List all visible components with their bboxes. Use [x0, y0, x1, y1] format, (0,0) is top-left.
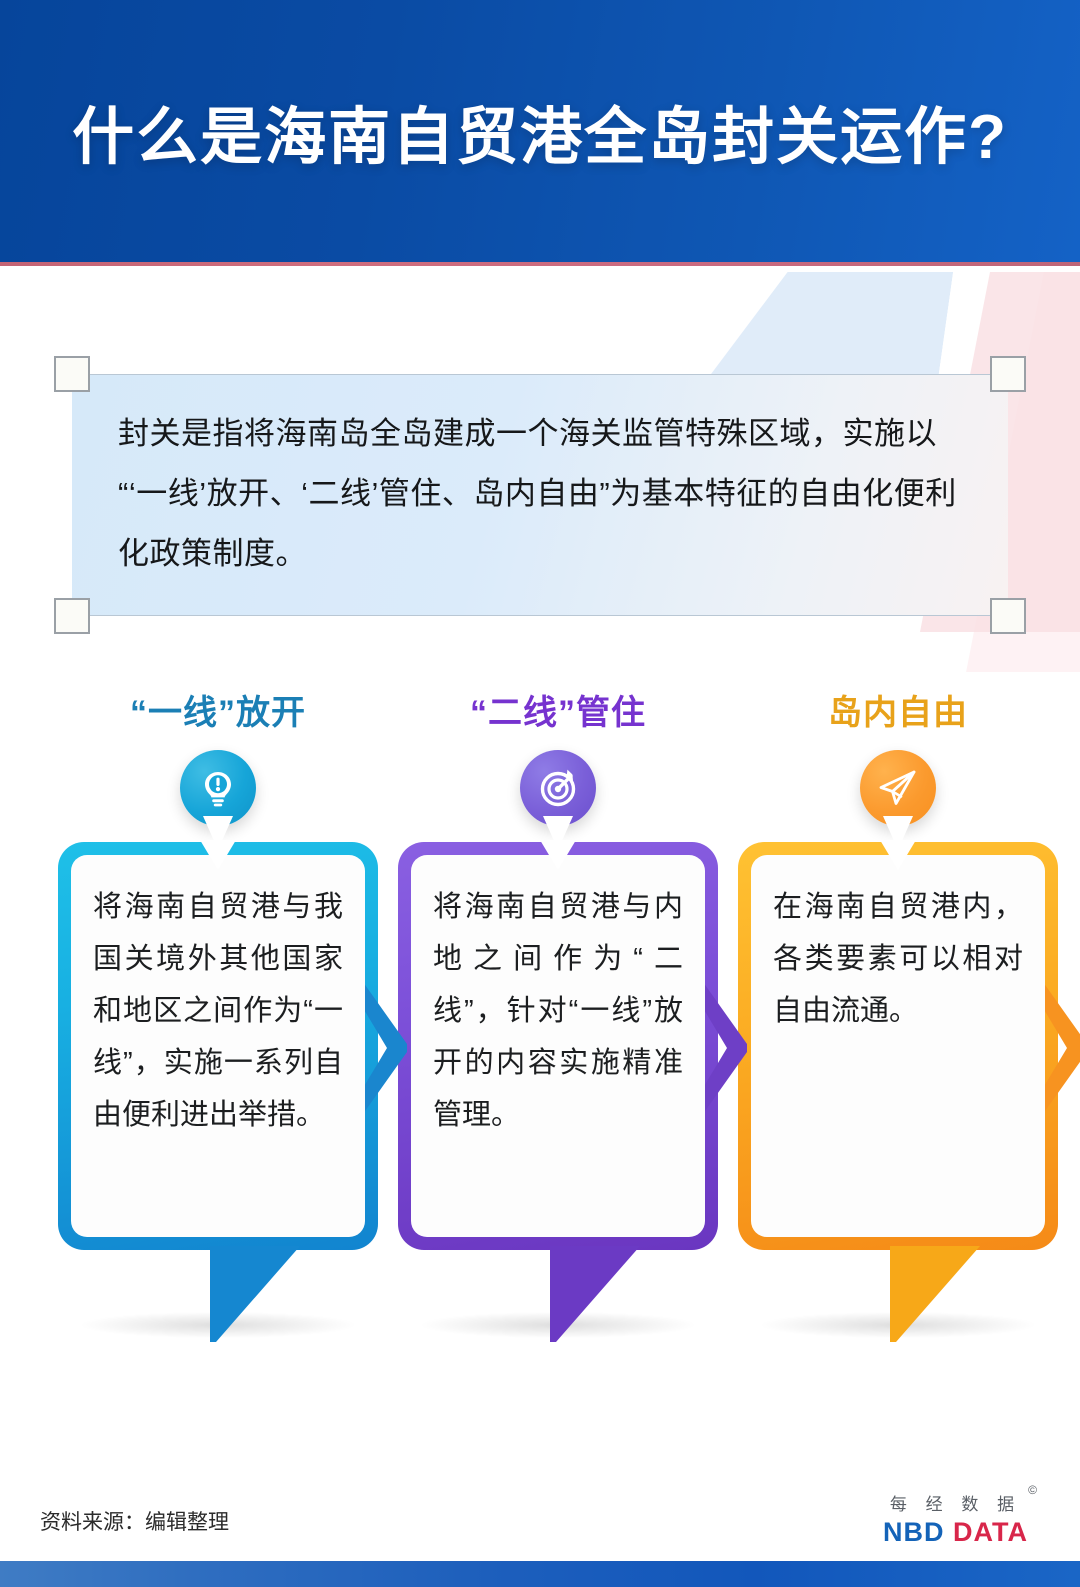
- badge-wrap-1: [48, 746, 388, 842]
- card-tail-3: [890, 1246, 980, 1346]
- corner-marker-top-right: [990, 356, 1026, 392]
- chevron-right-icon-1: [363, 982, 415, 1114]
- page-title: 什么是海南自贸港全岛封关运作?: [72, 86, 1008, 176]
- corner-marker-top-left: [54, 356, 90, 392]
- card-text-2: 将海南自贸港与内地之间作为“二线”，针对“一线”放开的内容实施精准管理。: [433, 881, 683, 1141]
- logo-chinese-text: 每 经 数 据: [890, 1495, 1021, 1514]
- intro-text: 封关是指将海南岛全岛建成一个海关监管特殊区域，实施以“‘一线’放开、‘二线’管住…: [118, 404, 968, 584]
- header-banner: 什么是海南自贸港全岛封关运作?: [0, 0, 1080, 262]
- footer-bar: [0, 1561, 1080, 1587]
- column-daonei-ziyou: 岛内自由: [728, 690, 1068, 1250]
- badge-pointer-2: [543, 816, 573, 850]
- column-title-1: “一线”放开: [48, 690, 388, 746]
- logo-data-text: DATA: [953, 1517, 1028, 1547]
- badge-pointer-3: [883, 816, 913, 850]
- intro-callout: 封关是指将海南岛全岛建成一个海关监管特殊区域，实施以“‘一线’放开、‘二线’管住…: [72, 374, 1008, 616]
- badge-wrap-2: [388, 746, 728, 842]
- logo-english-name: NBD DATA: [883, 1517, 1028, 1548]
- badge-pointer-1: [203, 816, 233, 850]
- copyright-icon: ©: [1028, 1483, 1037, 1497]
- column-title-2: “二线”管住: [388, 690, 728, 746]
- card-text-3: 在海南自贸港内，各类要素可以相对自由流通。: [773, 881, 1023, 1037]
- infographic-page: 什么是海南自贸港全岛封关运作? 封关是指将海南岛全岛建成一个海关监管特殊区域，实…: [0, 0, 1080, 1587]
- nbd-data-logo: 每 经 数 据 © NBD DATA: [883, 1490, 1028, 1548]
- target-icon: [520, 750, 596, 826]
- card-inner-3: 在海南自贸港内，各类要素可以相对自由流通。: [751, 855, 1045, 1237]
- speech-card-1: 将海南自贸港与我国关境外其他国家和地区之间作为“一线”，实施一系列自由便利进出举…: [58, 842, 378, 1250]
- speech-card-3: 在海南自贸港内，各类要素可以相对自由流通。: [738, 842, 1058, 1250]
- column-yixian-fangkai: “一线”放开: [48, 690, 388, 1250]
- card-inner-2: 将海南自贸港与内地之间作为“二线”，针对“一线”放开的内容实施精准管理。: [411, 855, 705, 1237]
- card-frame-1: 将海南自贸港与我国关境外其他国家和地区之间作为“一线”，实施一系列自由便利进出举…: [58, 842, 378, 1250]
- column-title-3: 岛内自由: [728, 690, 1068, 746]
- columns-section: “一线”放开: [0, 690, 1080, 1340]
- paper-plane-icon: [860, 750, 936, 826]
- chevron-right-icon-2: [703, 982, 755, 1114]
- logo-nbd-text: NBD: [883, 1517, 945, 1547]
- source-note: 资料来源：编辑整理: [40, 1506, 229, 1536]
- corner-marker-bottom-left: [54, 598, 90, 634]
- header-accent-line: [0, 262, 1080, 266]
- card-text-1: 将海南自贸港与我国关境外其他国家和地区之间作为“一线”，实施一系列自由便利进出举…: [93, 881, 343, 1141]
- card-tail-1: [210, 1246, 300, 1346]
- logo-chinese-name: 每 经 数 据 ©: [883, 1490, 1028, 1515]
- card-frame-3: 在海南自贸港内，各类要素可以相对自由流通。: [738, 842, 1058, 1250]
- card-frame-2: 将海南自贸港与内地之间作为“二线”，针对“一线”放开的内容实施精准管理。: [398, 842, 718, 1250]
- chevron-right-icon-3: [1043, 982, 1080, 1114]
- corner-marker-bottom-right: [990, 598, 1026, 634]
- column-erxian-guanzhu: “二线”管住: [388, 690, 728, 1250]
- speech-card-2: 将海南自贸港与内地之间作为“二线”，针对“一线”放开的内容实施精准管理。: [398, 842, 718, 1250]
- card-tail-2: [550, 1246, 640, 1346]
- badge-wrap-3: [728, 746, 1068, 842]
- card-inner-1: 将海南自贸港与我国关境外其他国家和地区之间作为“一线”，实施一系列自由便利进出举…: [71, 855, 365, 1237]
- lightbulb-icon: [180, 750, 256, 826]
